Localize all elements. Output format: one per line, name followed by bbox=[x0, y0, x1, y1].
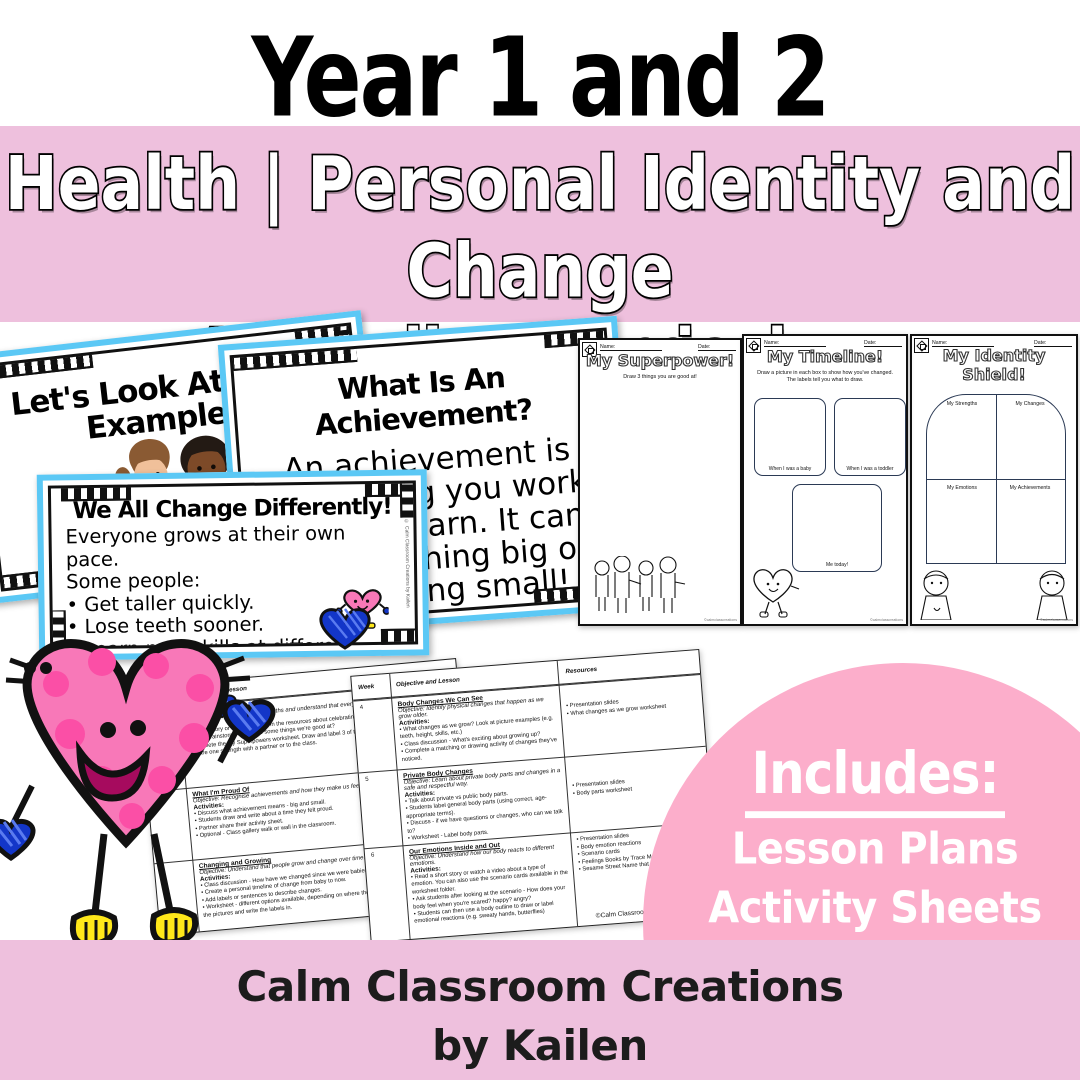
timeline-box-label: When I was a baby bbox=[755, 466, 825, 472]
worksheet-credit: ©calmclasscreations bbox=[704, 618, 737, 622]
includes-item-lesson-plans: Lesson Plans bbox=[660, 824, 1080, 875]
date-field-label: Date: bbox=[864, 340, 902, 347]
filmstrip-decoration bbox=[0, 353, 93, 381]
worksheet-title: My Superpower! bbox=[580, 353, 740, 369]
heart-mascot-character bbox=[0, 612, 286, 962]
worksheet-credit: ©calmclasscreations bbox=[870, 618, 903, 622]
timeline-box-today[interactable]: Me today! bbox=[792, 484, 882, 572]
includes-heading: Includes: bbox=[745, 740, 1004, 818]
timeline-box-toddler[interactable]: When I was a toddler bbox=[834, 398, 906, 476]
plan-col-resources: Resources bbox=[565, 666, 597, 675]
heart-mascot-line-icon bbox=[749, 562, 801, 618]
worksheet-instruction: Draw a picture in each box to show how y… bbox=[752, 370, 898, 384]
children-group-line-illustration bbox=[588, 556, 688, 614]
shield-cell-changes: My Changes bbox=[997, 401, 1063, 407]
filmstrip-decoration bbox=[230, 347, 358, 371]
worksheet-title-line-2: Shield! bbox=[912, 367, 1076, 383]
date-field-label: Date: bbox=[698, 344, 736, 351]
includes-item-activity-sheets: Activity Sheets bbox=[660, 883, 1080, 934]
name-field-label: Name: bbox=[764, 340, 826, 347]
plan-week-number: 4 bbox=[360, 705, 364, 711]
worksheet-my-superpower[interactable]: Name: Date: My Superpower! Draw 3 things… bbox=[578, 338, 742, 626]
slide-credit: © Calm Classroom Creations by Kailen bbox=[403, 518, 410, 607]
header-band: Health | Personal Identity and Change Au… bbox=[0, 126, 1080, 322]
worksheet-name-date-row: Name: Date: bbox=[600, 344, 736, 351]
brand-author: by Kailen bbox=[0, 1021, 1080, 1070]
worksheet-title: My Timeline! bbox=[744, 349, 906, 365]
shield-cell-emotions: My Emotions bbox=[929, 485, 995, 491]
cover-canvas: Year 1 and 2 Health | Personal Identity … bbox=[0, 0, 1080, 1080]
worksheet-title-line-1: My Identity bbox=[912, 348, 1076, 364]
heart-legs bbox=[94, 834, 172, 922]
filmstrip-decoration bbox=[400, 483, 415, 517]
timeline-box-baby[interactable]: When I was a baby bbox=[754, 398, 826, 476]
plan-week-number: 5 bbox=[365, 777, 369, 783]
brand-name: Calm Classroom Creations bbox=[0, 962, 1080, 1011]
plan-col-week: Week bbox=[358, 683, 375, 691]
worksheet-name-date-row: Name: Date: bbox=[764, 340, 902, 347]
plan-week-number: 6 bbox=[371, 853, 375, 859]
subject-line-1: Health | Personal Identity and Change bbox=[0, 139, 1080, 314]
shield-cell-achievements: My Achievements bbox=[997, 485, 1063, 491]
worksheet-instruction: Draw 3 things you are good at! bbox=[588, 374, 732, 381]
filmstrip-decoration bbox=[61, 485, 131, 501]
worksheet-my-timeline[interactable]: Name: Date: My Timeline! Draw a picture … bbox=[742, 334, 908, 626]
shield-divider-horizontal bbox=[927, 479, 1065, 480]
footer-band: Calm Classroom Creations by Kailen bbox=[0, 940, 1080, 1080]
identity-shield-outline[interactable]: My Strengths My Changes My Emotions My A… bbox=[926, 394, 1066, 564]
child-line-illustration-left bbox=[916, 570, 958, 620]
name-field-label: Name: bbox=[600, 344, 662, 351]
worksheet-credit: ©calmclasscreations bbox=[1040, 618, 1073, 622]
shield-cell-strengths: My Strengths bbox=[929, 401, 995, 407]
blue-heart-decoration-icon bbox=[315, 600, 375, 660]
child-line-illustration-right bbox=[1032, 570, 1074, 620]
page-title: Year 1 and 2 bbox=[27, 14, 1053, 142]
timeline-box-label: When I was a toddler bbox=[835, 466, 905, 472]
timeline-box-label: Me today! bbox=[793, 562, 881, 568]
slide-body-intro-1: Everyone grows at their own pace. bbox=[65, 522, 404, 572]
plan-col-objective: Objective and Lesson bbox=[396, 676, 460, 688]
worksheet-my-identity-shield[interactable]: Name: Date: My Identity Shield! My Stren… bbox=[910, 334, 1078, 626]
